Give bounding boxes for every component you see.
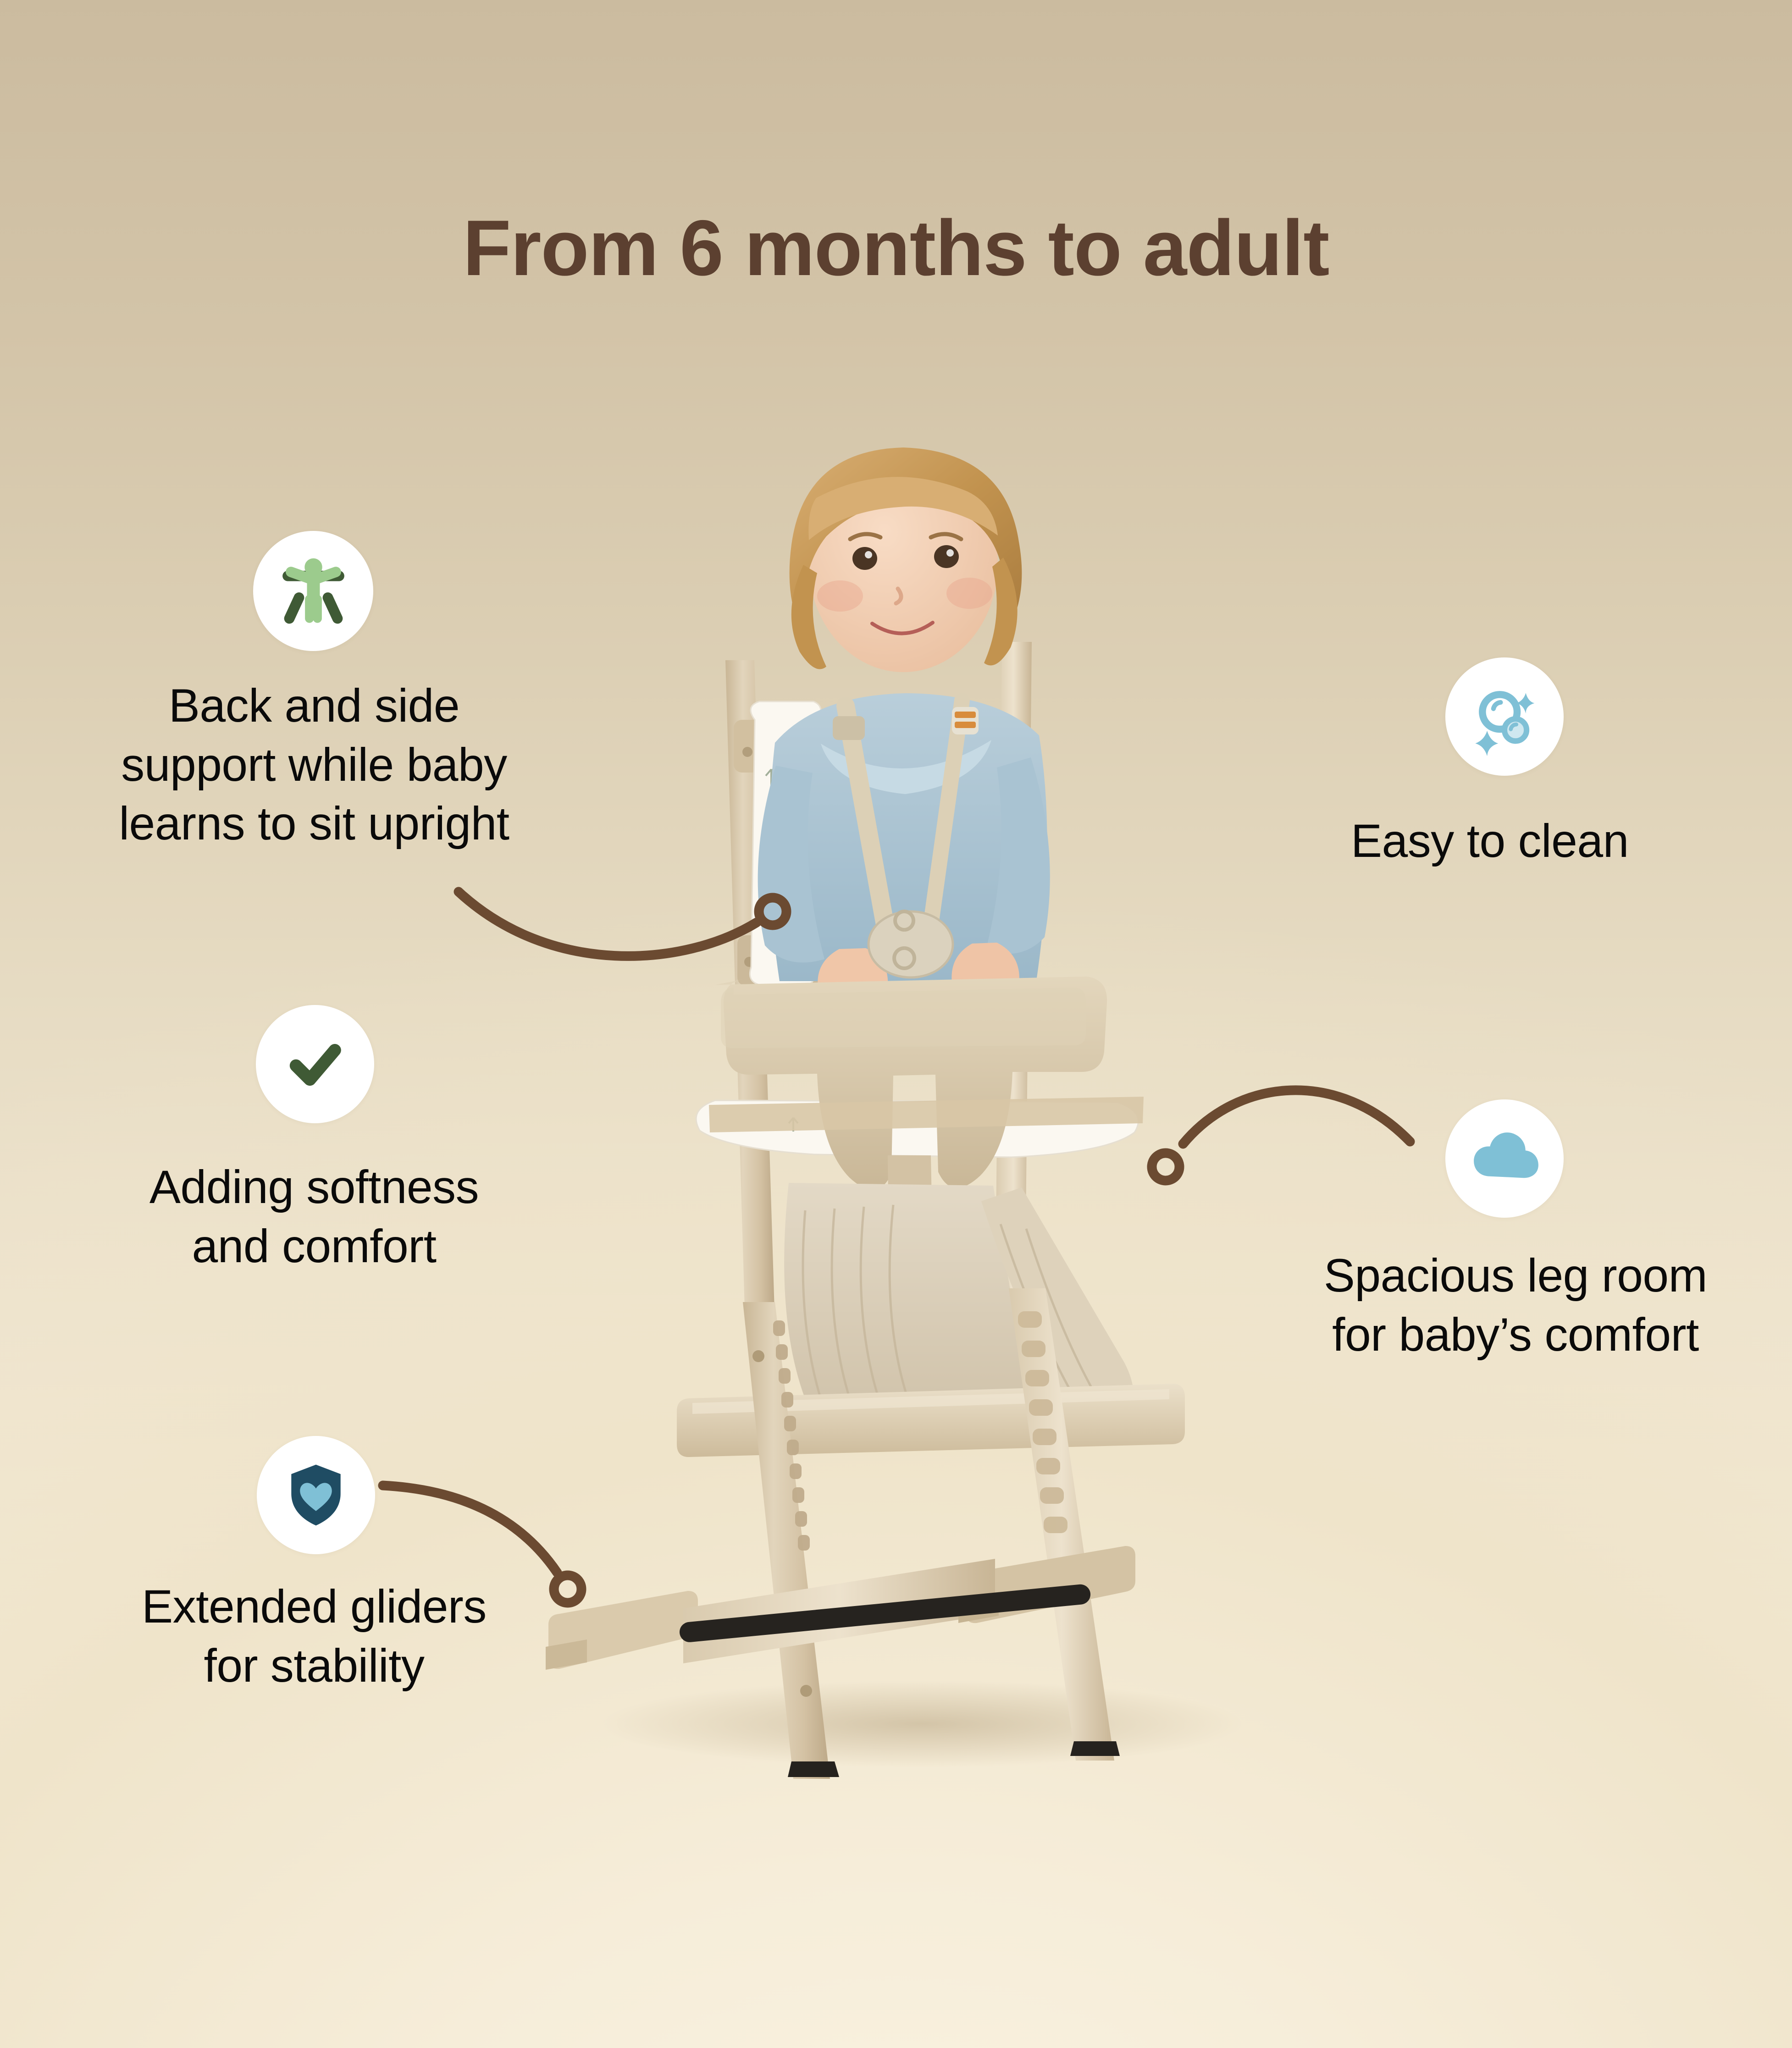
page-title: From 6 months to adult xyxy=(0,209,1792,287)
caption-line: Easy to clean xyxy=(1351,811,1764,871)
vitruvian-man-icon xyxy=(273,551,354,631)
cloud-icon xyxy=(1464,1118,1545,1199)
badge-adding-softness xyxy=(256,1005,374,1123)
product-photo-baby-in-high-chair xyxy=(518,403,1316,1779)
caption-spacious-leg-room: Spacious leg room for baby’s comfort xyxy=(1266,1246,1765,1364)
caption-easy-to-clean: Easy to clean xyxy=(1351,811,1764,871)
caption-back-and-side-support: Back and side support while baby learns … xyxy=(64,676,564,853)
caption-line: Adding softness xyxy=(83,1158,546,1217)
infographic-root: From 6 months to adult xyxy=(0,0,1792,2048)
badge-spacious-leg-room xyxy=(1445,1099,1564,1218)
caption-line: learns to sit upright xyxy=(64,794,564,853)
caption-line: for baby’s comfort xyxy=(1266,1305,1765,1364)
shield-heart-icon xyxy=(280,1459,352,1531)
badge-back-and-side-support xyxy=(253,531,373,651)
caption-line: for stability xyxy=(83,1636,546,1695)
caption-line: Extended gliders xyxy=(83,1577,546,1636)
caption-extended-gliders: Extended gliders for stability xyxy=(83,1577,546,1695)
badge-extended-gliders xyxy=(257,1436,375,1554)
caption-line: Spacious leg room xyxy=(1266,1246,1765,1305)
bubbles-sparkle-icon xyxy=(1465,677,1544,756)
caption-line: support while baby xyxy=(64,735,564,795)
caption-adding-softness: Adding softness and comfort xyxy=(83,1158,546,1275)
caption-line: and comfort xyxy=(83,1217,546,1276)
checkmark-icon xyxy=(278,1027,352,1101)
caption-line: Back and side xyxy=(64,676,564,735)
badge-easy-to-clean xyxy=(1445,657,1564,776)
